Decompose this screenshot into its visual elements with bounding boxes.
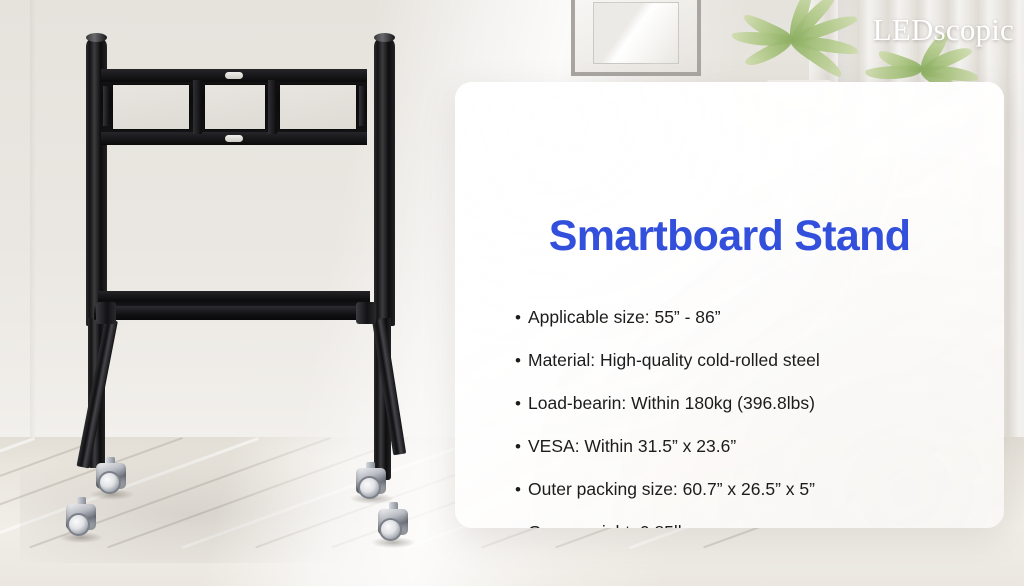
spec-text: Gross weight: 0.85lbs	[528, 522, 696, 528]
spec-text: VESA: Within 31.5” x 23.6”	[528, 436, 736, 457]
bullet-icon: •	[515, 352, 528, 369]
shelf-joint-right	[356, 302, 376, 324]
list-item: • Applicable size: 55” - 86”	[515, 307, 820, 350]
brand-logo: LEDscopic	[873, 14, 1014, 45]
spec-text: Material: High-quality cold-rolled steel	[528, 350, 820, 371]
bracket-hook-right	[359, 86, 365, 126]
spec-text: Outer packing size: 60.7” x 26.5” x 5”	[528, 479, 815, 500]
wall-artwork-frame	[571, 0, 701, 76]
spec-text: Applicable size: 55” - 86”	[528, 307, 721, 328]
card-content: Smartboard Stand • Applicable size: 55” …	[455, 82, 1004, 528]
list-item: • Gross weight: 0.85lbs	[515, 522, 820, 528]
stand-post-right	[374, 36, 395, 326]
bracket-slot-top	[225, 72, 243, 79]
list-item: • Material: High-quality cold-rolled ste…	[515, 350, 820, 393]
list-item: • Outer packing size: 60.7” x 26.5” x 5”	[515, 479, 820, 522]
smartboard-stand	[0, 0, 460, 586]
stand-shelf-lip	[94, 306, 374, 320]
shelf-joint-left	[96, 302, 116, 324]
vesa-mount-bracket	[101, 69, 367, 145]
bullet-icon: •	[515, 438, 528, 455]
product-banner: Smartboard Stand • Applicable size: 55” …	[0, 0, 1024, 586]
brand-logo-lower: scopic	[934, 12, 1014, 47]
bracket-opening-1	[112, 84, 190, 130]
spec-text: Load-bearin: Within 180kg (396.8lbs)	[528, 393, 815, 414]
spec-list: • Applicable size: 55” - 86” • Material:…	[515, 307, 820, 528]
bullet-icon: •	[515, 481, 528, 498]
stand-post-right-cap	[374, 33, 395, 42]
stand-post-left-cap	[86, 33, 107, 42]
bracket-rail-bottom	[101, 132, 367, 145]
bullet-icon: •	[515, 309, 528, 326]
bracket-crossbar-right	[268, 80, 277, 134]
page-title: Smartboard Stand	[455, 212, 1004, 261]
bracket-opening-3	[279, 84, 357, 130]
bracket-slot-bottom	[225, 135, 243, 142]
bracket-rail-top	[101, 69, 367, 82]
bracket-hook-left	[103, 86, 109, 126]
brand-logo-caps: LED	[873, 12, 934, 47]
list-item: • VESA: Within 31.5” x 23.6”	[515, 436, 820, 479]
wall-artwork-canvas	[593, 2, 679, 64]
bullet-icon: •	[515, 395, 528, 412]
bracket-opening-2	[204, 84, 266, 130]
bracket-crossbar-left	[193, 80, 202, 134]
list-item: • Load-bearin: Within 180kg (396.8lbs)	[515, 393, 820, 436]
spec-card: Smartboard Stand • Applicable size: 55” …	[455, 82, 1004, 528]
bullet-icon: •	[515, 524, 528, 528]
